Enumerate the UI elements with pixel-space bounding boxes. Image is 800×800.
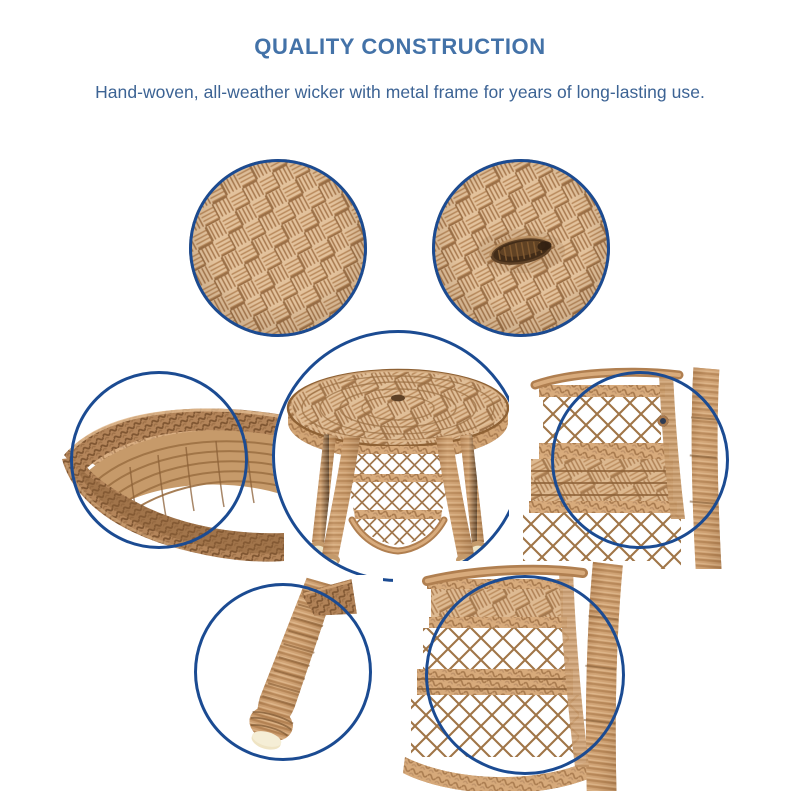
- detail-bubble-leg-foot[interactable]: Table leg with protective foot cap close…: [194, 583, 372, 761]
- detail-bubble-leg-joint-shelf[interactable]: Leg joint and lattice shelf close-up: [551, 371, 729, 549]
- leg-joint-lattice-art: [509, 359, 759, 569]
- detail-bubble-full-table[interactable]: Full round wicker dining table: [272, 330, 524, 582]
- detail-bubble-base-lattice[interactable]: Base frame lattice weave close-up: [425, 575, 625, 775]
- page-title: QUALITY CONSTRUCTION: [0, 0, 800, 60]
- umbrella-hole-art: [432, 159, 610, 337]
- page-subtitle: Hand-woven, all-weather wicker with meta…: [0, 60, 800, 103]
- bubble-image-tabletop-weave: [189, 159, 367, 337]
- bubble-image-table-rim-edge: [70, 371, 248, 549]
- detail-bubble-tabletop-weave[interactable]: Tabletop flat weave close-up: [189, 159, 367, 337]
- header: QUALITY CONSTRUCTION Hand-woven, all-wea…: [0, 0, 800, 103]
- round-wicker-table-art: [272, 330, 524, 582]
- leg-foot-cap-art: [183, 575, 383, 775]
- bubble-image-leg-foot: [194, 583, 372, 761]
- detail-bubble-umbrella-hole[interactable]: Umbrella hole in tabletop close-up: [432, 159, 610, 337]
- detail-collage: Tabletop flat weave close-up: [0, 130, 800, 800]
- product-feature-panel: QUALITY CONSTRUCTION Hand-woven, all-wea…: [0, 0, 800, 800]
- detail-bubble-table-rim-edge[interactable]: Table rim and edge weave close-up: [70, 371, 248, 549]
- bubble-image-umbrella-hole: [432, 159, 610, 337]
- weave-texture-art: [189, 159, 367, 337]
- bubble-image-full-table: [272, 330, 524, 582]
- table-rim-art: [34, 363, 284, 573]
- bubble-image-base-lattice: [425, 575, 625, 775]
- bubble-image-leg-joint-shelf: [551, 371, 729, 549]
- base-frame-lattice-art: [393, 561, 653, 791]
